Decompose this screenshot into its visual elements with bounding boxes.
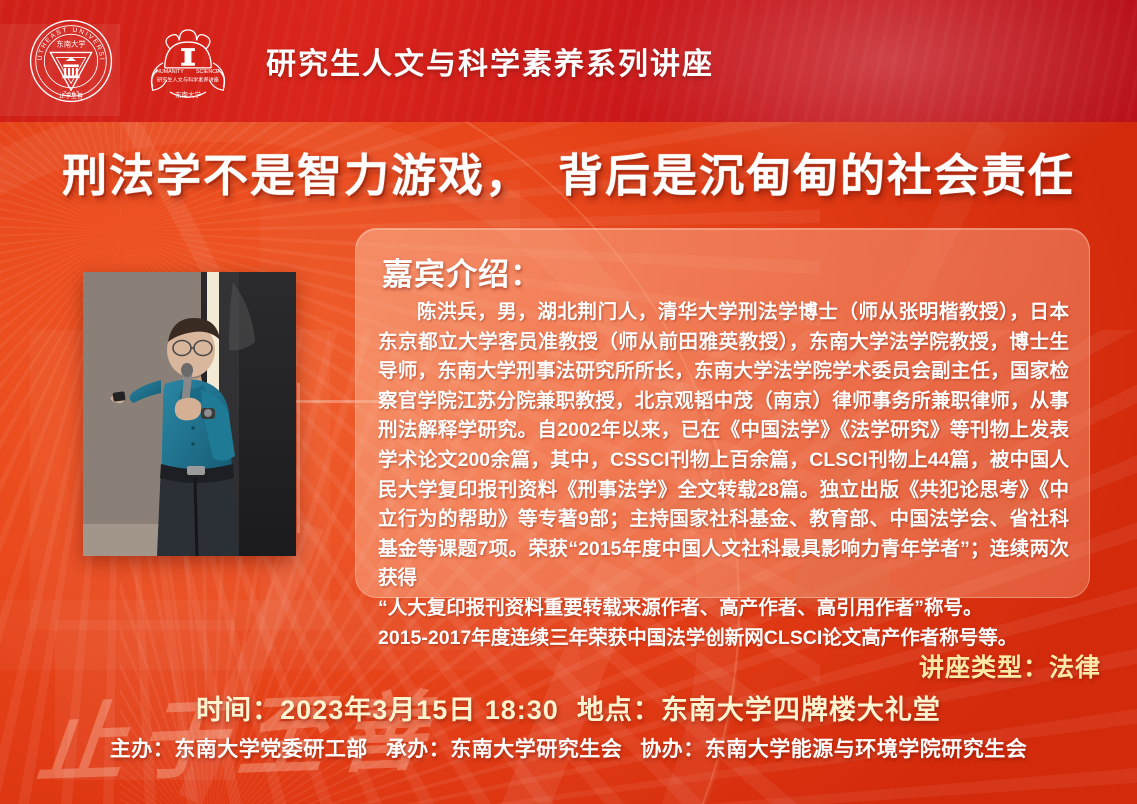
- host-value: 东南大学党委研工部: [174, 738, 368, 761]
- decorative-cross-vertical: [297, 383, 300, 533]
- page-title-part2: 背后是沉甸甸的社会责任: [558, 150, 1075, 201]
- humanity-science-emblem-logo: HUMANITY SCIENCE 研究生人文与科学素养讲座 东南大学: [132, 18, 244, 104]
- svg-text:东南大学: 东南大学: [56, 39, 85, 48]
- guest-intro-panel: 嘉宾介绍： 陈洪兵，男，湖北荆门人，清华大学刑法学博士（师从张明楷教授），日本东…: [355, 228, 1090, 598]
- svg-text:SCIENCE: SCIENCE: [196, 69, 220, 75]
- guest-intro-paragraph-1: 陈洪兵，男，湖北荆门人，清华大学刑法学博士（师从张明楷教授），日本东京都立大学客…: [378, 298, 1069, 594]
- lecture-poster: 止于至善 SOUTHEAST UNIVERSITY 1902 东南大学: [0, 0, 1137, 804]
- guest-intro-heading: 嘉宾介绍：: [382, 249, 1069, 294]
- guest-intro-paragraph-2: “人大复印报刊资料重要转载来源作者、高产作者、高引用作者”称号。: [378, 594, 1069, 624]
- time-and-place: 时间：2023年3月15日 18:30地点：东南大学四牌楼大礼堂: [0, 688, 1137, 727]
- page-title-part1: 刑法学不是智力游戏，: [62, 150, 532, 201]
- organizer-value: 东南大学研究生会: [450, 738, 622, 761]
- time-label: 时间：: [196, 695, 280, 725]
- organizer-label: 承办：: [386, 738, 451, 761]
- coorganizer-value: 东南大学能源与环境学院研究生会: [705, 738, 1028, 761]
- host-label: 主办：: [110, 738, 175, 761]
- svg-text:止于至善: 止于至善: [59, 92, 83, 100]
- organizers-line: 主办：东南大学党委研工部承办：东南大学研究生会协办：东南大学能源与环境学院研究生…: [0, 733, 1137, 763]
- speaker-photo: [83, 272, 296, 556]
- svg-text:东南大学: 东南大学: [175, 90, 201, 99]
- svg-text:研究生人文与科学素养讲座: 研究生人文与科学素养讲座: [157, 76, 219, 84]
- lecture-type-label: 讲座类型：法律: [919, 648, 1101, 684]
- coorganizer-label: 协办：: [640, 738, 705, 761]
- page-title: 刑法学不是智力游戏，背后是沉甸甸的社会责任: [0, 139, 1137, 204]
- place-value: 东南大学四牌楼大礼堂: [661, 695, 941, 725]
- guest-intro-body: 陈洪兵，男，湖北荆门人，清华大学刑法学博士（师从张明楷教授），日本东京都立大学客…: [378, 298, 1069, 653]
- series-title: 研究生人文与科学素养系列讲座: [266, 39, 714, 83]
- svg-text:HUMANITY: HUMANITY: [156, 69, 184, 75]
- poster-header: SOUTHEAST UNIVERSITY 1902 东南大学 止于至善: [0, 0, 1137, 122]
- place-label: 地点：: [577, 695, 661, 725]
- southeast-university-seal-logo: SOUTHEAST UNIVERSITY 1902 东南大学 止于至善: [28, 18, 114, 104]
- time-value: 2023年3月15日 18:30: [280, 695, 559, 725]
